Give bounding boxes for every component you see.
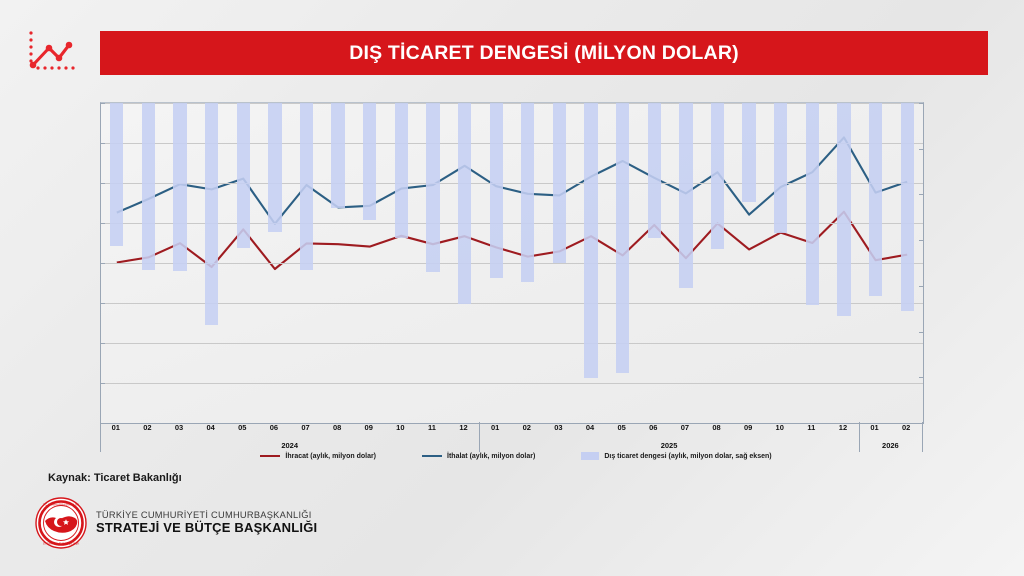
balance-bar [616, 103, 629, 373]
svg-text:TC CUMHURBAŞKANLIĞI: TC CUMHURBAŞKANLIĞI [43, 502, 79, 507]
tick-mark [101, 263, 105, 264]
balance-bar [300, 103, 313, 270]
x-axis-tick: 02 [143, 424, 151, 432]
x-axis-tick: 08 [333, 424, 341, 432]
plot-area: 0500010000150002000025000300003500040000… [100, 102, 924, 424]
x-axis-tick: 10 [396, 424, 404, 432]
tick-mark [919, 194, 923, 195]
x-axis-tick: 02 [902, 424, 910, 432]
tick-mark [919, 103, 923, 104]
tick-mark [101, 103, 105, 104]
x-axis-tick: 01 [491, 424, 499, 432]
balance-bar [268, 103, 281, 232]
balance-bar [869, 103, 882, 296]
balance-bar [584, 103, 597, 378]
tick-mark [101, 223, 105, 224]
source-note: Kaynak: Ticaret Bakanlığı [48, 472, 182, 484]
gridline [101, 263, 923, 264]
chart-legend: İhracat (aylık, milyon dolar)İthalat (ay… [46, 448, 986, 464]
balance-bar [205, 103, 218, 325]
x-axis-tick: 03 [175, 424, 183, 432]
x-axis-tick: 09 [365, 424, 373, 432]
legend-label: İthalat (aylık, milyon dolar) [447, 453, 535, 460]
balance-bar [363, 103, 376, 220]
tick-mark [101, 183, 105, 184]
legend-item[interactable]: İthalat (aylık, milyon dolar) [422, 453, 535, 460]
x-axis-tick: 05 [238, 424, 246, 432]
balance-bar [237, 103, 250, 248]
organization-line-2: STRATEJİ VE BÜTÇE BAŞKANLIĞI [96, 521, 317, 536]
legend-label: Dış ticaret dengesi (aylık, milyon dolar… [604, 453, 771, 460]
tick-mark [101, 143, 105, 144]
x-axis-tick: 03 [554, 424, 562, 432]
gridline [101, 143, 923, 144]
gridline [101, 103, 923, 104]
x-axis-tick: 05 [617, 424, 625, 432]
balance-bar [173, 103, 186, 271]
x-axis-tick: 11 [428, 424, 436, 432]
x-axis-tick: 04 [586, 424, 594, 432]
x-axis-tick: 07 [681, 424, 689, 432]
x-axis-tick: 01 [870, 424, 878, 432]
balance-bar [648, 103, 661, 238]
tick-mark [919, 332, 923, 333]
balance-bar [774, 103, 787, 233]
balance-bar [837, 103, 850, 316]
title-banner: DIŞ TİCARET DENGESİ (MİLYON DOLAR) [100, 31, 988, 75]
chart-container: 0500010000150002000025000300003500040000… [46, 92, 986, 452]
balance-bar [901, 103, 914, 311]
exports-line [117, 212, 907, 269]
x-axis-tick: 10 [776, 424, 784, 432]
tick-mark [101, 303, 105, 304]
gridline [101, 303, 923, 304]
legend-line-swatch [260, 455, 280, 458]
gridline [101, 223, 923, 224]
x-axis-tick: 02 [523, 424, 531, 432]
republic-of-turkiye-seal-icon: TC CUMHURBAŞKANLIĞI STRATEJİ VE BÜTÇE BŞ… [35, 497, 87, 549]
tick-mark [919, 377, 923, 378]
balance-bar [426, 103, 439, 272]
tick-mark [919, 149, 923, 150]
legend-label: İhracat (aylık, milyon dolar) [285, 453, 376, 460]
tick-mark [101, 343, 105, 344]
tick-mark [919, 286, 923, 287]
balance-bar [110, 103, 123, 246]
gridline [101, 343, 923, 344]
legend-bar-swatch [581, 452, 599, 460]
organization-text: TÜRKİYE CUMHURİYETİ CUMHURBAŞKANLIĞI STR… [96, 510, 317, 536]
balance-bar [806, 103, 819, 305]
x-axis-tick: 04 [206, 424, 214, 432]
gridline [101, 383, 923, 384]
imports-line [117, 137, 907, 223]
balance-bar [331, 103, 344, 208]
x-axis-tick: 06 [649, 424, 657, 432]
balance-bar [679, 103, 692, 288]
x-axis-tick: 01 [112, 424, 120, 432]
balance-bar [142, 103, 155, 270]
slide-root: DIŞ TİCARET DENGESİ (MİLYON DOLAR) 05000… [0, 0, 1024, 576]
x-axis-tick: 07 [301, 424, 309, 432]
legend-line-swatch [422, 455, 442, 458]
x-axis-tick: 09 [744, 424, 752, 432]
balance-bar [742, 103, 755, 202]
x-axis-tick: 06 [270, 424, 278, 432]
x-axis-tick: 12 [839, 424, 847, 432]
organization-block: TC CUMHURBAŞKANLIĞI STRATEJİ VE BÜTÇE BŞ… [35, 497, 317, 549]
legend-item[interactable]: Dış ticaret dengesi (aylık, milyon dolar… [581, 452, 771, 460]
tick-mark [101, 383, 105, 384]
legend-item[interactable]: İhracat (aylık, milyon dolar) [260, 453, 376, 460]
x-axis-tick: 12 [459, 424, 467, 432]
gridline [101, 183, 923, 184]
balance-bar [458, 103, 471, 304]
balance-bar [553, 103, 566, 263]
svg-text:STRATEJİ VE BÜTÇE BŞK: STRATEJİ VE BÜTÇE BŞK [43, 541, 80, 546]
balance-bar [711, 103, 724, 249]
tick-mark [919, 240, 923, 241]
x-axis-tick: 11 [807, 424, 815, 432]
balance-bar [521, 103, 534, 282]
x-axis-tick: 08 [712, 424, 720, 432]
balance-bar [490, 103, 503, 278]
line-chart-icon [25, 27, 95, 79]
balance-bar [395, 103, 408, 238]
page-title: DIŞ TİCARET DENGESİ (MİLYON DOLAR) [349, 42, 739, 65]
